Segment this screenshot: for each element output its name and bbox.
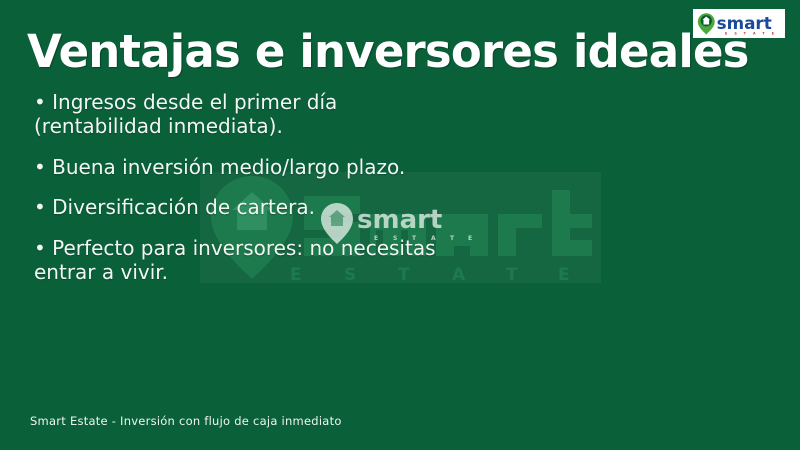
svg-text:A: A [753,32,756,36]
slide-footer: Smart Estate - Inversión con flujo de ca… [30,414,342,428]
slide-title: Ventajas e inversores ideales [27,28,749,75]
bullet-item-3: • Diversificación de cartera. [34,195,594,219]
bullet-item-2: • Buena inversión medio/largo plazo. [34,155,594,179]
slide-canvas: E S T A T E smart E S [0,0,800,450]
bullet-list: • Ingresos desde el primer día (rentabil… [34,90,594,284]
bullet-item-1: • Ingresos desde el primer día (rentabil… [34,90,594,139]
bullet-item-4: • Perfecto para inversores: no necesitas… [34,236,594,285]
